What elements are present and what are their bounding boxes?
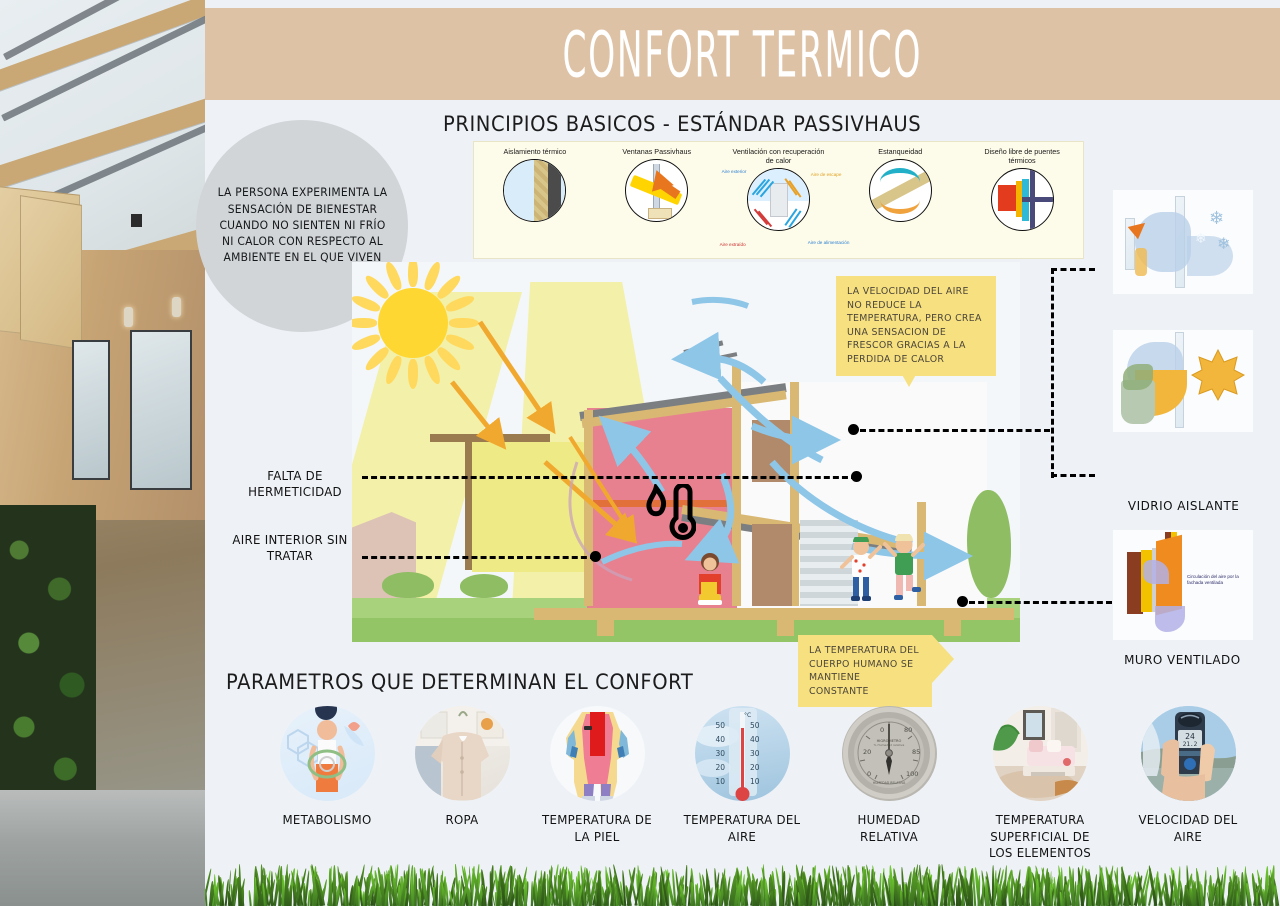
- parameter-label: TEMPERATURA DEL AIRE: [680, 812, 804, 845]
- passivhaus-caption: Diseño libre de puentes térmicos: [973, 147, 1071, 165]
- wall-insulation-icon: [503, 159, 566, 222]
- label-aire-interior: AIRE INTERIOR SIN TRATAR: [225, 532, 354, 564]
- leader-dot: [590, 551, 601, 562]
- passivhaus-item-insulation: Aislamiento térmico: [474, 142, 596, 258]
- sun-icon: [1191, 348, 1245, 407]
- window-icon: [625, 159, 688, 222]
- snowflake-icon: ❄: [1209, 208, 1224, 229]
- heat-thermometer-icon: [644, 484, 696, 544]
- parameter-temperatura-aire: °C 5050 4040 3030 2020 1010 TEMPERATURA …: [677, 706, 807, 845]
- passivhaus-caption: Ventanas Passivhaus: [622, 147, 691, 156]
- parametros-heading: PARAMETROS QUE DETERMINAN EL CONFORT: [226, 670, 693, 694]
- interior-door: [752, 524, 792, 606]
- insulated-glass-cold-image: ❄ ❄ ❄: [1113, 190, 1253, 294]
- svg-text:21.2: 21.2: [1182, 741, 1197, 748]
- passivhaus-principles-strip: Aislamiento térmico Ventanas Passivhaus …: [473, 141, 1084, 259]
- label-vidrio-aislante: VIDRIO AISLANTE: [1128, 498, 1239, 513]
- leader-dot: [957, 596, 968, 607]
- snowflake-icon: ❄: [1217, 234, 1230, 254]
- label-falta-hermeticidad: FALTA DE HERMETICIDAD: [235, 468, 355, 500]
- note-velocidad-aire: LA VELOCIDAD DEL AIRE NO REDUCE LA TEMPE…: [836, 276, 996, 376]
- clothing-icon: [415, 706, 510, 801]
- note-arrow: [932, 635, 954, 683]
- label-muro-ventilado: MURO VENTILADO: [1124, 652, 1241, 667]
- air-temperature-icon: °C 5050 4040 3030 2020 1010: [695, 706, 790, 801]
- parameter-label: TEMPERATURA DE LA PIEL: [535, 812, 659, 845]
- svg-text:40: 40: [715, 735, 725, 744]
- metabolism-icon: [280, 706, 375, 801]
- principios-heading: PRINCIPIOS BASICOS - ESTÁNDAR PASSIVHAUS: [443, 112, 921, 136]
- passivhaus-item-airtightness: Estanqueidad: [839, 142, 961, 258]
- tree: [967, 490, 1011, 598]
- ventilated-wall-image: Circulación del aire por la fachada vent…: [1113, 530, 1253, 640]
- parameter-label: METABOLISMO: [265, 812, 389, 829]
- leader-line-bracket-bottom: [1051, 474, 1095, 477]
- passivhaus-caption: Estanqueidad: [878, 147, 922, 156]
- svg-text:80: 80: [904, 726, 912, 734]
- person-standing: [882, 534, 926, 609]
- passivhaus-caption: Aislamiento térmico: [504, 147, 567, 156]
- sun-icon: [352, 262, 512, 422]
- leader-dot: [851, 471, 862, 482]
- person-sitting: [692, 552, 728, 611]
- intro-text: LA PERSONA EXPERIMENTA LA SENSACIÓN DE B…: [214, 185, 390, 266]
- leader-line-bracket-top: [1051, 268, 1095, 271]
- svg-text:°C: °C: [744, 712, 751, 719]
- passivhaus-item-ventilation: Ventilación con recuperación de calor Ai…: [718, 142, 840, 258]
- glazed-panel: [472, 442, 587, 572]
- note-temperatura-cuerpo: LA TEMPERATURA DEL CUERPO HUMANO SE MANT…: [798, 635, 932, 707]
- parameter-label: TEMPERATURA SUPERFICIAL DE LOS ELEMENTOS: [978, 812, 1102, 862]
- svg-text:20: 20: [863, 748, 871, 756]
- svg-text:30: 30: [750, 749, 760, 758]
- heat-recovery-icon: [747, 168, 810, 231]
- humidity-icon: 080 2085 0100 HIGROMETRO % Humedad relat…: [842, 706, 937, 801]
- svg-text:24: 24: [1185, 732, 1195, 741]
- structural-column: [584, 410, 593, 606]
- air-extracted-label: Aire extraído: [720, 242, 746, 247]
- svg-text:10: 10: [750, 777, 760, 786]
- svg-text:50: 50: [750, 721, 760, 730]
- air-escape-label: Aire de escape: [811, 172, 842, 177]
- svg-text:100: 100: [906, 770, 918, 778]
- parameter-ropa: ROPA: [397, 706, 527, 829]
- parameter-metabolismo: METABOLISMO: [262, 706, 392, 829]
- leader-line-hermeticidad: [362, 476, 857, 479]
- svg-text:0: 0: [880, 726, 884, 734]
- insulated-glass-heat-image: [1113, 330, 1253, 432]
- parameter-velocidad-aire: 24 21.2 VELOCIDAD DEL AIRE: [1123, 706, 1253, 845]
- air-exterior-label: Aire exterior: [722, 169, 747, 174]
- svg-text:40: 40: [750, 735, 760, 744]
- person-standing: [840, 537, 882, 610]
- snowflake-icon: ❄: [1195, 230, 1207, 247]
- passivhaus-item-thermal-bridge: Diseño libre de puentes térmicos: [961, 142, 1083, 258]
- passivhaus-caption: Ventilación con recuperación de calor: [729, 147, 827, 165]
- interior-door: [752, 420, 790, 482]
- leader-line-windows: [860, 429, 1050, 432]
- parameter-temperatura-piel: TEMPERATURA DE LA PIEL: [532, 706, 662, 845]
- architecture-photo: [0, 0, 205, 906]
- parameter-humedad: 080 2085 0100 HIGROMETRO % Humedad relat…: [824, 706, 954, 845]
- leader-line-bracket: [1051, 268, 1054, 478]
- airtightness-icon: [869, 159, 932, 222]
- svg-text:20: 20: [750, 763, 760, 772]
- air-speed-icon: 24 21.2: [1141, 706, 1236, 801]
- surface-temperature-icon: [993, 706, 1088, 801]
- structural-column: [732, 366, 741, 606]
- leader-line-muro: [969, 601, 1112, 604]
- svg-text:10: 10: [715, 777, 725, 786]
- grass-footer: [205, 860, 1280, 906]
- parameter-label: ROPA: [400, 812, 524, 829]
- svg-text:50: 50: [715, 721, 725, 730]
- leader-dot: [848, 424, 859, 435]
- skin-temperature-icon: [550, 706, 645, 801]
- svg-text:30: 30: [715, 749, 725, 758]
- passivhaus-item-windows: Ventanas Passivhaus: [596, 142, 718, 258]
- ventilated-wall-caption: Circulación del aire por la fachada vent…: [1187, 574, 1245, 586]
- parameter-label: VELOCIDAD DEL AIRE: [1126, 812, 1250, 845]
- parameter-label: HUMEDAD RELATIVA: [827, 812, 951, 845]
- page-title: CONFORT TERMICO: [563, 17, 923, 91]
- leader-line-aire-interior: [362, 556, 596, 559]
- parameters-row: METABOLISMO RO: [210, 700, 1280, 870]
- svg-text:0: 0: [867, 770, 871, 778]
- svg-text:85: 85: [912, 748, 920, 756]
- svg-text:20: 20: [715, 763, 725, 772]
- poster-header: CONFORT TERMICO: [205, 8, 1280, 100]
- porch-roof: [430, 434, 550, 442]
- parameter-temperatura-superficial: TEMPERATURA SUPERFICIAL DE LOS ELEMENTOS: [975, 706, 1105, 862]
- poster-root: CONFORT TERMICO PRINCIPIOS BASICOS - EST…: [0, 0, 1280, 906]
- thermal-bridge-icon: [991, 168, 1054, 231]
- svg-text:HUMEDAD RELATIVA: HUMEDAD RELATIVA: [872, 781, 905, 785]
- note-tail: [900, 371, 918, 387]
